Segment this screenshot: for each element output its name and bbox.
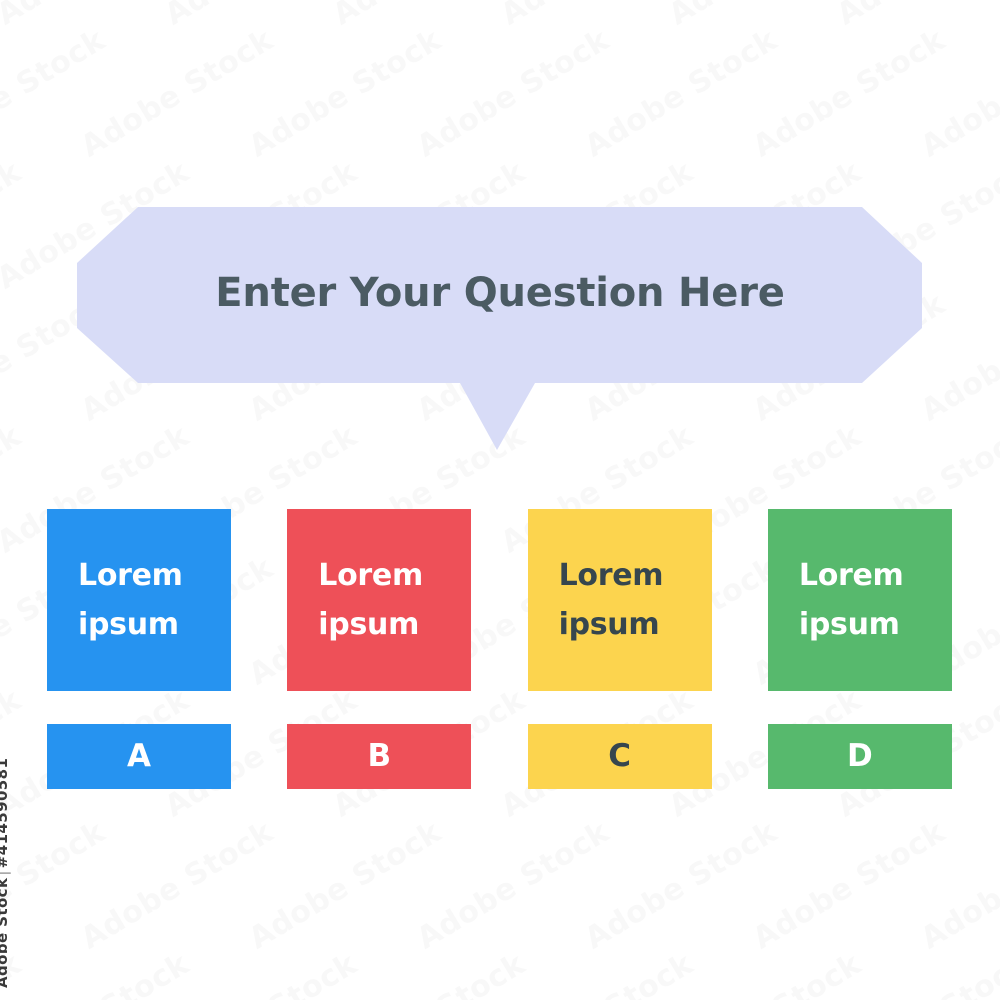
answer-card-d-line2: ipsum — [799, 600, 942, 649]
answer-letter-bar-a[interactable]: A — [47, 724, 231, 789]
answer-card-d-line1: Lorem — [799, 551, 942, 600]
answer-letter-bar-b[interactable]: B — [287, 724, 471, 789]
watermark-text: Adobe Stock — [579, 815, 783, 957]
answer-card-d[interactable]: Lorem ipsum — [768, 509, 952, 691]
watermark-text: Adobe Stock — [75, 815, 279, 957]
answer-card-b-line1: Lorem — [318, 551, 461, 600]
watermark-text: Adobe Stock — [327, 947, 531, 1000]
answer-option-c[interactable]: Lorem ipsum C — [528, 509, 712, 790]
answer-option-a[interactable]: Lorem ipsum A — [47, 509, 231, 790]
infographic-canvas: Adobe StockAdobe StockAdobe StockAdobe S… — [0, 0, 1000, 1000]
answer-option-b[interactable]: Lorem ipsum B — [287, 509, 471, 790]
stock-asset-id: #414590581 — [0, 758, 11, 869]
stock-brand-label: Adobe Stock — [0, 878, 11, 988]
answer-card-c-line2: ipsum — [559, 600, 702, 649]
watermark-text: Adobe Stock — [0, 815, 111, 957]
answer-option-d[interactable]: Lorem ipsum D — [768, 509, 952, 790]
answer-card-a-line2: ipsum — [78, 600, 221, 649]
answer-card-a[interactable]: Lorem ipsum — [47, 509, 231, 691]
watermark-text: Adobe Stock — [243, 815, 447, 957]
answer-letter-b: B — [367, 741, 391, 772]
question-title: Enter Your Question Here — [77, 262, 923, 324]
answer-letter-c: C — [608, 741, 631, 772]
answer-card-a-line1: Lorem — [78, 551, 221, 600]
stock-credit-strip: Adobe Stock|#414590581 — [0, 758, 11, 988]
answer-letter-bar-c[interactable]: C — [528, 724, 712, 789]
watermark-text: Adobe Stock — [495, 947, 699, 1000]
watermark-text: Adobe Stock — [663, 947, 867, 1000]
watermark-text: Adobe Stock — [0, 947, 195, 1000]
answer-card-c-line1: Lorem — [559, 551, 702, 600]
answer-letter-bar-d[interactable]: D — [768, 724, 952, 789]
answer-letter-d: D — [847, 741, 873, 772]
question-speech-bubble: Enter Your Question Here — [0, 0, 1000, 470]
watermark-text: Adobe Stock — [915, 815, 1000, 957]
answer-options-grid: Lorem ipsum A Lorem ipsum B Lorem ipsum — [47, 509, 952, 790]
watermark-text: Adobe Stock — [159, 947, 363, 1000]
watermark-text: Adobe Stock — [831, 947, 1000, 1000]
answer-card-b[interactable]: Lorem ipsum — [287, 509, 471, 691]
answer-card-b-line2: ipsum — [318, 600, 461, 649]
watermark-text: Adobe Stock — [747, 815, 951, 957]
credit-separator: | — [0, 868, 11, 877]
watermark-text: Adobe Stock — [411, 815, 615, 957]
answer-letter-a: A — [127, 741, 151, 772]
speech-bubble-shape — [77, 207, 922, 450]
answer-card-c[interactable]: Lorem ipsum — [528, 509, 712, 691]
